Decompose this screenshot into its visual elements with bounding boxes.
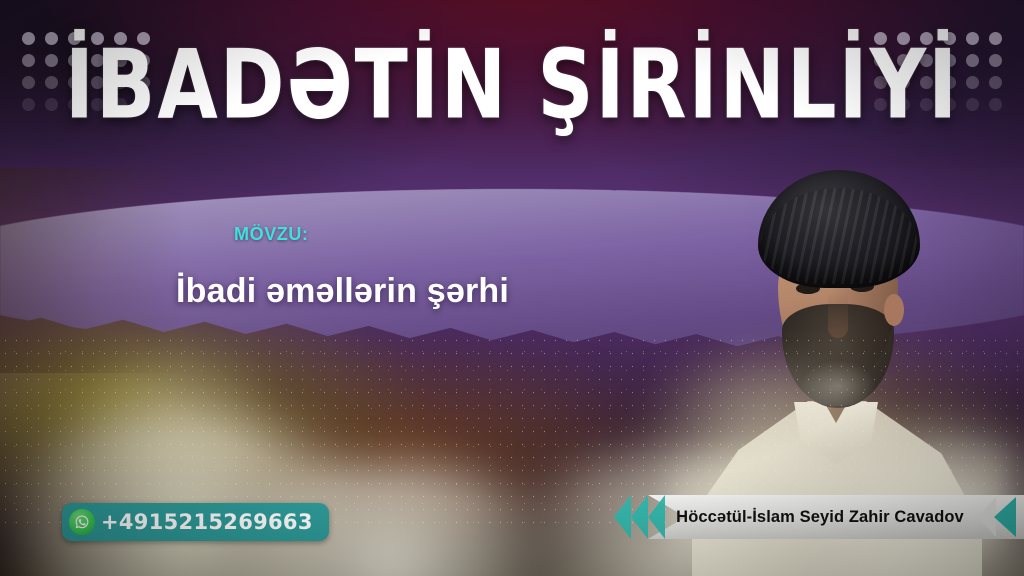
speaker-name-banner: Höccətül-İslam Seyid Zahir Cavadov xyxy=(614,495,1024,539)
speaker-name: Höccətül-İslam Seyid Zahir Cavadov xyxy=(680,495,960,539)
whatsapp-contact-pill[interactable]: +4915215269663 xyxy=(62,503,329,541)
chevron-right-icon xyxy=(994,497,1016,537)
subject-text: İbadi əməllərin şərhi xyxy=(176,272,509,311)
portrait-ear xyxy=(884,294,904,326)
page-title: İBADƏTİN ŞİRİNLİYİ xyxy=(0,38,1024,133)
whatsapp-phone-number: +4915215269663 xyxy=(101,510,313,534)
portrait-nose xyxy=(828,292,848,338)
poster-canvas: İBADƏTİN ŞİRİNLİYİ MÖVZU: İbadi əməlləri… xyxy=(0,0,1024,576)
subject-label: MÖVZU: xyxy=(234,224,309,245)
whatsapp-icon xyxy=(69,509,95,535)
